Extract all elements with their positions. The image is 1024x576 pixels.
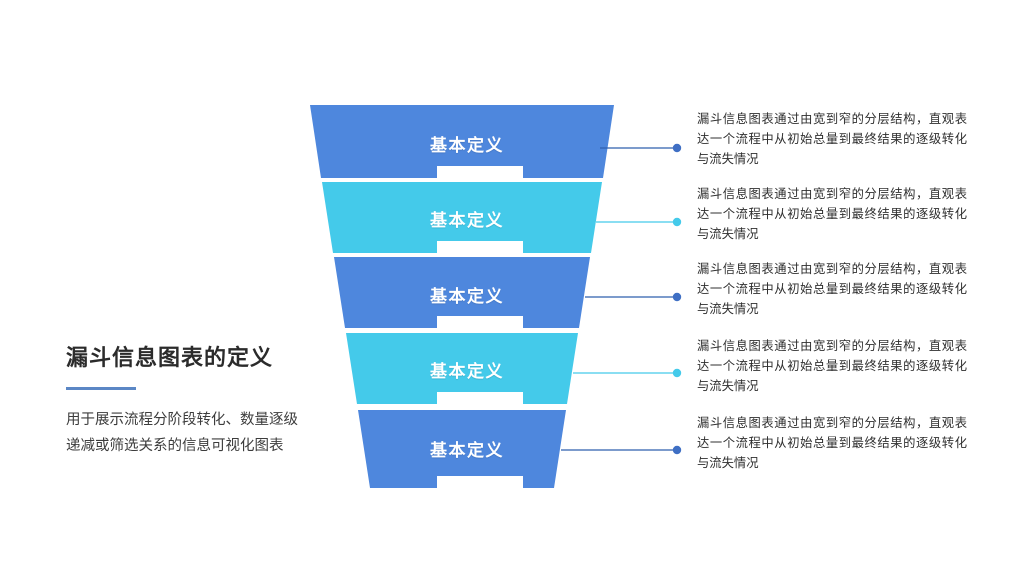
description-item-1: 漏斗信息图表通过由宽到窄的分层结构，直观表达一个流程中从初始总量到最终结果的逐级… bbox=[697, 110, 967, 170]
funnel-segment-label-4: 基本定义 bbox=[412, 357, 522, 382]
funnel-segment-label-5: 基本定义 bbox=[412, 436, 522, 461]
description-item-4: 漏斗信息图表通过由宽到窄的分层结构，直观表达一个流程中从初始总量到最终结果的逐级… bbox=[697, 337, 967, 397]
connector-line-5 bbox=[561, 446, 681, 454]
description-item-3: 漏斗信息图表通过由宽到窄的分层结构，直观表达一个流程中从初始总量到最终结果的逐级… bbox=[697, 260, 967, 320]
funnel-segment-label-1: 基本定义 bbox=[412, 131, 522, 156]
connector-line-2 bbox=[596, 218, 681, 226]
page-title: 漏斗信息图表的定义 bbox=[66, 345, 336, 371]
description-item-2: 漏斗信息图表通过由宽到窄的分层结构，直观表达一个流程中从初始总量到最终结果的逐级… bbox=[697, 185, 967, 245]
slide-canvas: 漏斗信息图表的定义 用于展示流程分阶段转化、数量逐级递减或筛选关系的信息可视化图… bbox=[0, 0, 1024, 576]
description-item-5: 漏斗信息图表通过由宽到窄的分层结构，直观表达一个流程中从初始总量到最终结果的逐级… bbox=[697, 414, 967, 474]
connector-line-3 bbox=[585, 293, 681, 301]
funnel-segment-5 bbox=[358, 410, 566, 488]
funnel-segment-3 bbox=[334, 257, 590, 328]
funnel-segment-label-3: 基本定义 bbox=[412, 282, 522, 307]
funnel-segment-1 bbox=[310, 105, 614, 178]
page-description: 用于展示流程分阶段转化、数量逐级递减或筛选关系的信息可视化图表 bbox=[66, 408, 311, 459]
connector-line-4 bbox=[573, 369, 681, 377]
left-text-block: 漏斗信息图表的定义 用于展示流程分阶段转化、数量逐级递减或筛选关系的信息可视化图… bbox=[66, 345, 336, 459]
funnel-segment-label-2: 基本定义 bbox=[412, 206, 522, 231]
connector-line-1 bbox=[600, 144, 681, 152]
title-divider bbox=[66, 387, 136, 390]
funnel-segment-4 bbox=[346, 333, 578, 404]
funnel-segment-2 bbox=[322, 182, 602, 253]
